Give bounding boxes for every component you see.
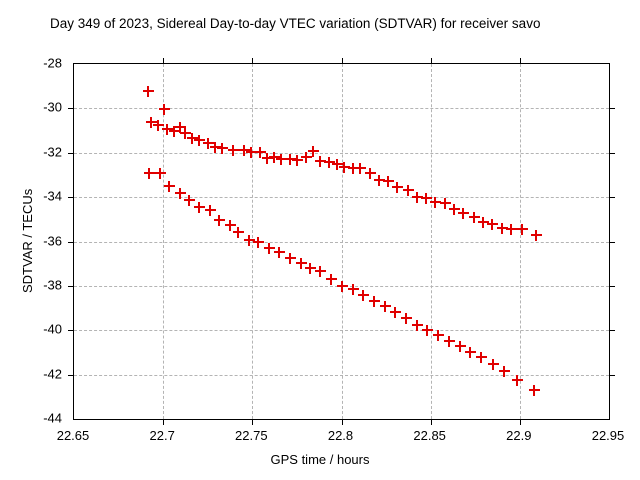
y-tick-right <box>609 375 615 376</box>
data-point-marker <box>403 185 414 196</box>
data-point-marker <box>315 156 326 167</box>
x-gridline <box>431 64 432 419</box>
data-point-marker <box>476 352 487 363</box>
x-tick-top <box>431 58 432 64</box>
data-point-marker <box>380 301 391 312</box>
y-tick-right <box>609 286 615 287</box>
x-tick-top <box>252 58 253 64</box>
y-tick-right <box>609 330 615 331</box>
data-point-marker <box>228 145 239 156</box>
data-point-marker <box>262 153 273 164</box>
data-point-marker <box>274 247 285 258</box>
data-point-marker <box>155 168 166 179</box>
y-tick <box>68 197 74 198</box>
x-gridline <box>252 64 253 419</box>
data-point-marker <box>383 176 394 187</box>
data-point-marker <box>339 162 350 173</box>
y-tick-label: -42 <box>0 366 62 381</box>
data-point-marker <box>296 258 307 269</box>
x-tick <box>163 419 164 425</box>
y-tick <box>68 108 74 109</box>
y-tick-label: -34 <box>0 189 62 204</box>
data-point-marker <box>517 224 528 235</box>
data-point-marker <box>180 128 191 139</box>
chart-figure: Day 349 of 2023, Sidereal Day-to-day VTE… <box>0 0 640 480</box>
y-tick-label: -40 <box>0 322 62 337</box>
data-point-marker <box>225 220 236 231</box>
data-point-marker <box>348 163 359 174</box>
data-point-marker <box>401 313 412 324</box>
x-tick <box>252 419 253 425</box>
y-tick-right <box>609 197 615 198</box>
data-point-marker <box>390 307 401 318</box>
x-tick-label: 22.65 <box>57 428 90 443</box>
x-tick-top <box>342 58 343 64</box>
data-point-marker <box>444 336 455 347</box>
data-point-marker <box>358 290 369 301</box>
data-point-marker <box>143 86 154 97</box>
y-tick-label: -44 <box>0 411 62 426</box>
x-tick <box>431 419 432 425</box>
y-tick <box>68 375 74 376</box>
data-point-marker <box>315 266 326 277</box>
data-point-marker <box>374 175 385 186</box>
data-point-marker <box>244 235 255 246</box>
data-point-marker <box>253 237 264 248</box>
data-point-marker <box>326 274 337 285</box>
data-point-marker <box>205 205 216 216</box>
chart-title: Day 349 of 2023, Sidereal Day-to-day VTE… <box>50 16 640 32</box>
x-tick <box>342 419 343 425</box>
data-point-marker <box>144 168 155 179</box>
data-point-marker <box>531 230 542 241</box>
data-point-marker <box>239 145 250 156</box>
data-point-marker <box>488 359 499 370</box>
data-point-marker <box>455 341 466 352</box>
data-point-marker <box>440 198 451 209</box>
data-point-marker <box>187 133 198 144</box>
data-point-marker <box>506 224 517 235</box>
y-tick-label: -30 <box>0 100 62 115</box>
y-tick-label: -36 <box>0 233 62 248</box>
data-point-marker <box>203 138 214 149</box>
data-point-marker <box>365 168 376 179</box>
data-point-marker <box>355 163 366 174</box>
data-point-marker <box>305 263 316 274</box>
x-tick-top <box>163 58 164 64</box>
y-tick <box>68 286 74 287</box>
data-point-marker <box>478 217 489 228</box>
data-point-marker <box>194 135 205 146</box>
y-tick-right <box>609 242 615 243</box>
data-point-marker <box>465 347 476 358</box>
data-point-marker <box>292 155 303 166</box>
y-tick-label: -32 <box>0 144 62 159</box>
y-tick <box>68 330 74 331</box>
data-point-marker <box>392 182 403 193</box>
data-point-marker <box>458 208 469 219</box>
x-tick-label: 22.7 <box>150 428 175 443</box>
y-tick-label: -38 <box>0 277 62 292</box>
data-point-marker <box>194 202 205 213</box>
data-point-marker <box>285 253 296 264</box>
data-point-marker <box>308 146 319 157</box>
data-point-marker <box>285 154 296 165</box>
data-point-marker <box>164 181 175 192</box>
data-point-marker <box>369 296 380 307</box>
x-tick-label: 22.8 <box>328 428 353 443</box>
data-point-marker <box>497 223 508 234</box>
y-tick-label: -28 <box>0 56 62 71</box>
plot-area <box>73 63 610 420</box>
data-point-marker <box>449 204 460 215</box>
x-tick <box>520 419 521 425</box>
data-point-marker <box>146 117 157 128</box>
data-point-marker <box>264 243 275 254</box>
y-tick <box>68 242 74 243</box>
data-point-marker <box>324 157 335 168</box>
y-tick <box>68 153 74 154</box>
data-point-marker <box>175 122 186 133</box>
x-tick-top <box>520 58 521 64</box>
data-point-marker <box>169 126 180 137</box>
y-tick-right <box>609 108 615 109</box>
data-point-marker <box>487 219 498 230</box>
data-point-marker <box>233 227 244 238</box>
data-point-marker <box>433 330 444 341</box>
x-gridline <box>342 64 343 419</box>
data-point-marker <box>214 215 225 226</box>
x-tick-label: 22.85 <box>413 428 446 443</box>
data-point-marker <box>512 375 523 386</box>
x-gridline <box>520 64 521 419</box>
data-point-marker <box>529 385 540 396</box>
x-tick-label: 22.75 <box>235 428 268 443</box>
x-tick-label: 22.95 <box>592 428 625 443</box>
data-point-marker <box>469 212 480 223</box>
data-point-marker <box>210 142 221 153</box>
y-tick-right <box>609 153 615 154</box>
x-tick-label: 22.9 <box>506 428 531 443</box>
data-point-marker <box>276 154 287 165</box>
x-axis-title: GPS time / hours <box>271 452 370 467</box>
x-gridline <box>163 64 164 419</box>
